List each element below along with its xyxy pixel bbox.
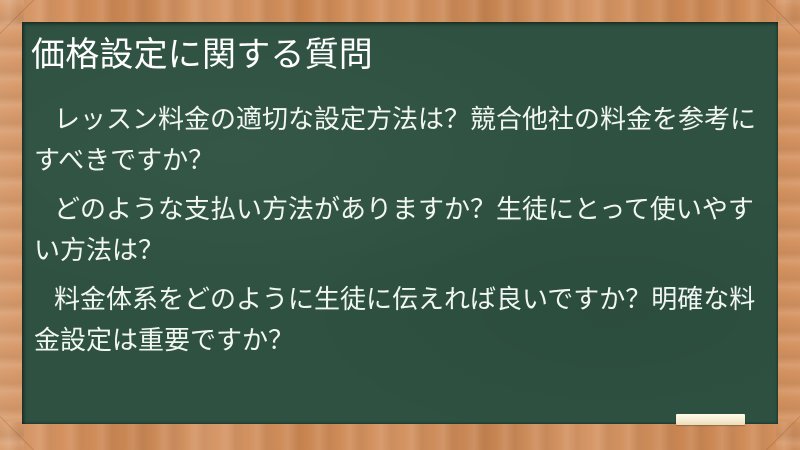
chalk-stick: [676, 414, 745, 425]
list-item: レッスン料金の適切な設定方法は？競合他社の料金を参考にすべきですか？: [34, 100, 762, 182]
chalkboard-surface: 価格設定に関する質問 レッスン料金の適切な設定方法は？競合他社の料金を参考にすべ…: [22, 22, 778, 424]
frame-rail-top: [0, 0, 800, 24]
list-item: 料金体系をどのように生徒に伝えれば良いですか？明確な料金設定は重要ですか？: [34, 280, 762, 362]
question-list: レッスン料金の適切な設定方法は？競合他社の料金を参考にすべきですか？ どのような…: [34, 100, 762, 370]
frame-rail-right: [776, 0, 800, 450]
frame-rail-left: [0, 0, 24, 450]
page-title: 価格設定に関する質問: [31, 33, 761, 77]
frame-rail-bottom: [0, 422, 800, 450]
list-item: どのような支払い方法がありますか？生徒にとって使いやすい方法は？: [34, 190, 762, 272]
chalkboard-slide: 価格設定に関する質問 レッスン料金の適切な設定方法は？競合他社の料金を参考にすべ…: [0, 0, 800, 450]
